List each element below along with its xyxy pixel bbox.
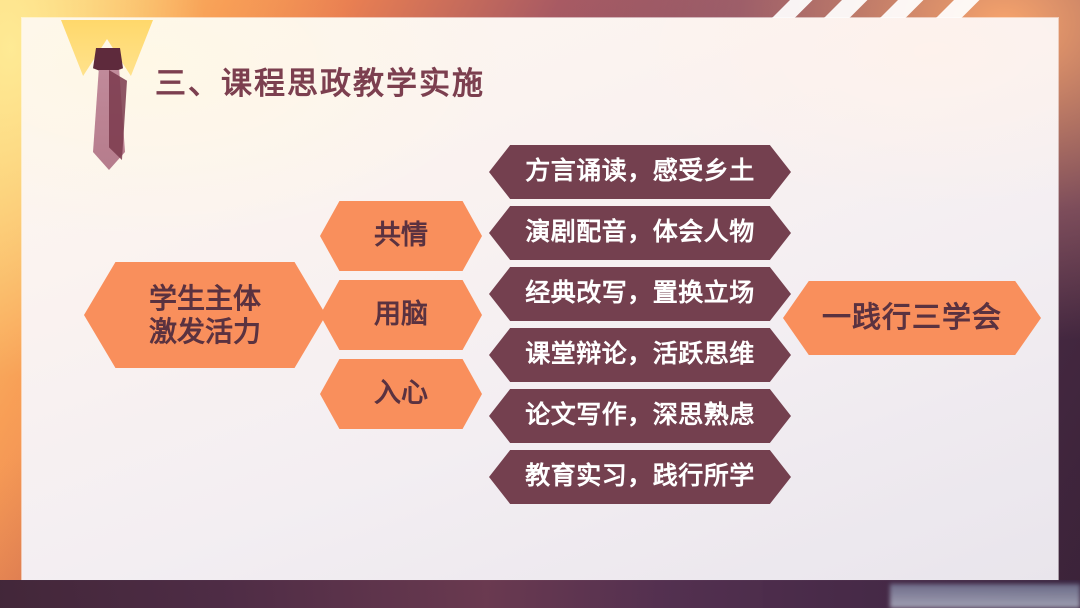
diagram-activity-label-2: 经典改写，置换立场 [525,279,755,309]
diagram-stage-label-0: 共情 [374,220,428,252]
diagram-activity-label-4: 论文写作，深思熟虑 [525,401,755,431]
diagram-activity-node-0[interactable]: 方言诵读，感受乡土 [489,145,791,199]
diagram-stage-node-2[interactable]: 入心 [320,359,482,429]
diagram-activity-node-3[interactable]: 课堂辩论，活跃思维 [489,328,791,382]
bottom-thumbnail [890,584,1080,608]
diagram-activity-label-0: 方言诵读，感受乡土 [525,157,755,187]
slide-canvas: 三、课程思政教学实施 学生主体激发活力 共情 用脑 入心 方言诵读，感受乡土 演… [0,0,1080,608]
diagram-root-label: 学生主体激发活力 [149,282,261,348]
diagram-activity-label-1: 演剧配音，体会人物 [525,218,755,248]
diagram-stage-node-0[interactable]: 共情 [320,201,482,271]
diagram-outcome-label: 一践行三学会 [822,301,1002,335]
diagram-activity-node-4[interactable]: 论文写作，深思熟虑 [489,389,791,443]
diagram-stage-label-1: 用脑 [374,299,428,331]
diagram-activity-node-5[interactable]: 教育实习，践行所学 [489,450,791,504]
diagram-root-line1: 学生主体 [149,283,261,314]
diagram-activity-node-1[interactable]: 演剧配音，体会人物 [489,206,791,260]
diagram-root-line2: 激发活力 [149,316,261,347]
diagram-outcome-node[interactable]: 一践行三学会 [783,281,1041,355]
page-title: 三、课程思政教学实施 [155,58,485,103]
diagram-stage-label-2: 入心 [374,378,428,410]
diagram-stage-node-1[interactable]: 用脑 [320,280,482,350]
diagram-activity-label-5: 教育实习，践行所学 [525,462,755,492]
bottom-strip [0,580,1080,608]
diagram-root-node[interactable]: 学生主体激发活力 [84,262,326,368]
diagram-activity-label-3: 课堂辩论，活跃思维 [525,340,755,370]
diagram-activity-node-2[interactable]: 经典改写，置换立场 [489,267,791,321]
